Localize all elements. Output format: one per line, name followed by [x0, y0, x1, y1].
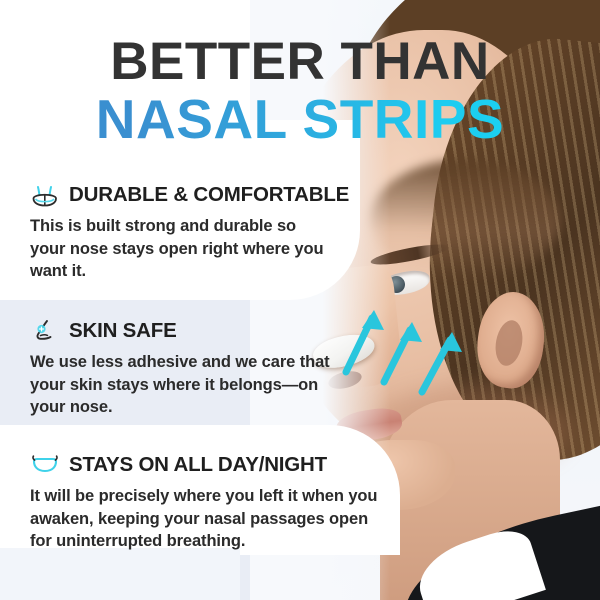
- product-feature-ad: BETTER THAN NASAL STRIPS DURABLE & COMFO…: [0, 0, 600, 600]
- feature-block-stays-on: STAYS ON ALL DAY/NIGHT It will be precis…: [30, 452, 380, 553]
- nose-profile-icon: [30, 318, 60, 344]
- feature-block-durable-comfortable: DURABLE & COMFORTABLE This is built stro…: [30, 182, 380, 283]
- feature-heading-row: SKIN SAFE: [30, 318, 380, 344]
- headline: BETTER THAN NASAL STRIPS: [0, 34, 600, 148]
- headline-line-2: NASAL STRIPS: [0, 90, 600, 148]
- feature-body: We use less adhesive and we care that yo…: [30, 351, 330, 419]
- feature-title: STAYS ON ALL DAY/NIGHT: [69, 453, 327, 477]
- feature-title: DURABLE & COMFORTABLE: [69, 183, 349, 207]
- feature-title: SKIN SAFE: [69, 319, 177, 343]
- sleep-mask-icon: [30, 452, 60, 478]
- feature-body: This is built strong and durable so your…: [30, 215, 330, 283]
- card-bottom-fill: [0, 548, 240, 600]
- nasal-dilator-icon: [30, 182, 60, 208]
- feature-heading-row: DURABLE & COMFORTABLE: [30, 182, 380, 208]
- feature-block-skin-safe: SKIN SAFE We use less adhesive and we ca…: [30, 318, 380, 419]
- headline-line-1: BETTER THAN: [0, 34, 600, 90]
- feature-heading-row: STAYS ON ALL DAY/NIGHT: [30, 452, 380, 478]
- feature-body: It will be precisely where you left it w…: [30, 485, 380, 553]
